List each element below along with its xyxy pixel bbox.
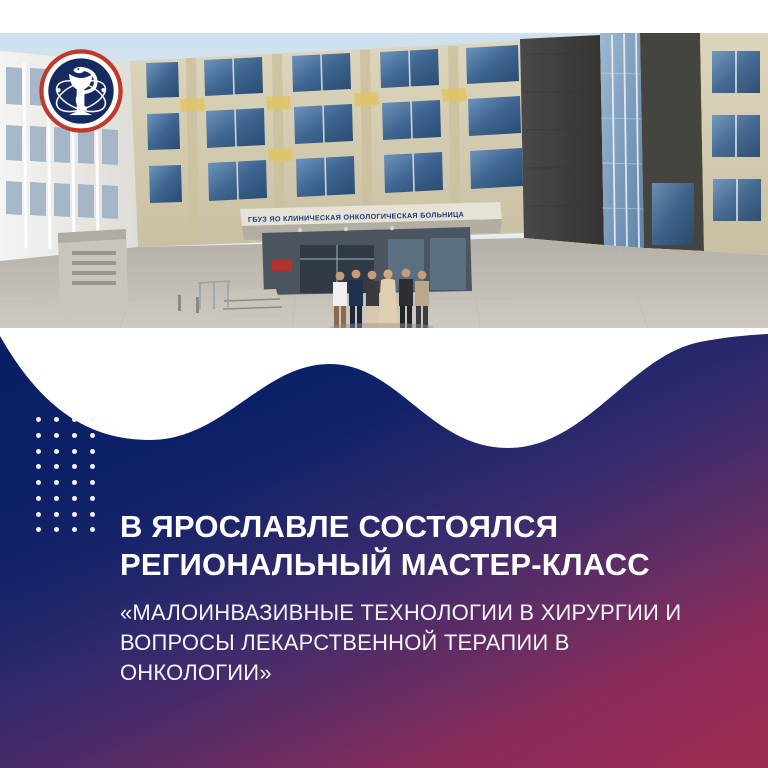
- bowl-of-hygieia-icon: [38, 48, 124, 134]
- dot: [36, 449, 41, 454]
- dot: [54, 496, 59, 501]
- dot: [72, 480, 77, 485]
- dot: [54, 417, 59, 422]
- dot: [72, 417, 77, 422]
- dot: [90, 464, 95, 469]
- dot: [36, 512, 41, 517]
- dot: [72, 512, 77, 517]
- dot: [90, 480, 95, 485]
- decorative-dot-grid: [36, 417, 108, 543]
- dot: [72, 496, 77, 501]
- poster-card: ГБУЗ ЯО КЛИНИЧЕСКАЯ ОНКОЛОГИЧЕСКАЯ БОЛЬН…: [0, 0, 768, 768]
- photo-right-wing: [640, 33, 768, 255]
- headline-line-1: В ЯРОСЛАВЛЕ СОСТОЯЛСЯ: [120, 508, 720, 546]
- poster-subtitle: «МАЛОИНВАЗИВНЫЕ ТЕХНОЛОГИИ В ХИРУРГИИ И …: [120, 598, 740, 688]
- dot: [72, 464, 77, 469]
- dot: [90, 496, 95, 501]
- dot: [54, 449, 59, 454]
- dot: [72, 527, 77, 532]
- photo-kiosk: [58, 229, 128, 315]
- dot: [54, 512, 59, 517]
- dot: [54, 527, 59, 532]
- dot: [36, 417, 41, 422]
- poster-headline: В ЯРОСЛАВЛЕ СОСТОЯЛСЯ РЕГИОНАЛЬНЫЙ МАСТЕ…: [120, 508, 720, 584]
- dot: [54, 480, 59, 485]
- dot: [36, 433, 41, 438]
- dot: [54, 464, 59, 469]
- headline-line-2: РЕГИОНАЛЬНЫЙ МАСТЕР-КЛАСС: [120, 546, 720, 584]
- dot: [36, 496, 41, 501]
- dot: [90, 417, 95, 422]
- dot: [90, 527, 95, 532]
- dot: [90, 512, 95, 517]
- dot: [54, 433, 59, 438]
- subtitle-line-2: ВОПРОСЫ ЛЕКАРСТВЕННОЙ ТЕРАПИИ В: [120, 628, 740, 658]
- photo-glass-tower: [600, 33, 644, 248]
- dot: [36, 464, 41, 469]
- dot: [72, 449, 77, 454]
- dot: [36, 480, 41, 485]
- dot: [72, 433, 77, 438]
- subtitle-line-1: «МАЛОИНВАЗИВНЫЕ ТЕХНОЛОГИИ В ХИРУРГИИ И: [120, 598, 740, 628]
- dot: [90, 449, 95, 454]
- subtitle-line-3: ОНКОЛОГИИ»: [120, 658, 740, 688]
- ministry-of-health-logo: [38, 48, 124, 134]
- dot: [90, 433, 95, 438]
- photo-dark-tower: [520, 35, 604, 245]
- dot: [36, 527, 41, 532]
